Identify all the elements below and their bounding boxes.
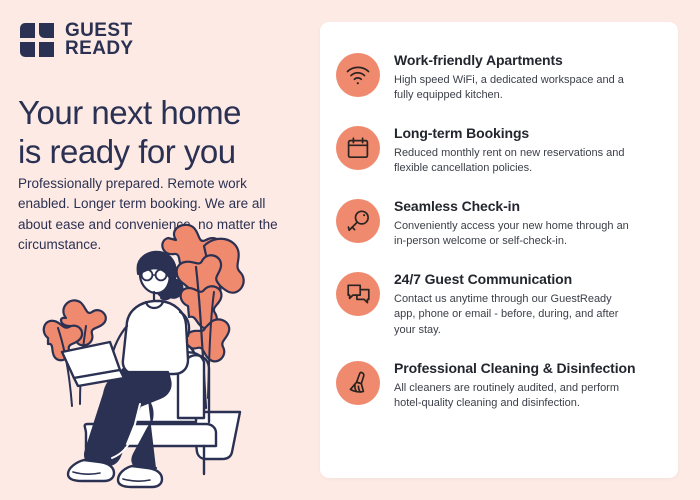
feature-item[interactable]: 24/7 Guest Communication Contact us anyt… (336, 270, 664, 337)
feature-item[interactable]: Long-term Bookings Reduced monthly rent … (336, 124, 664, 176)
broom-icon (336, 361, 380, 405)
feature-item[interactable]: Seamless Check-in Conveniently access yo… (336, 197, 664, 249)
wifi-icon (336, 53, 380, 97)
feature-text: Work-friendly Apartments High speed WiFi… (394, 51, 632, 103)
promo-page: GUEST READY Your next home is ready for … (0, 0, 700, 500)
page-title: Your next home is ready for you (18, 94, 304, 172)
feature-description: Reduced monthly rent on new reservations… (394, 146, 632, 176)
feature-text: Long-term Bookings Reduced monthly rent … (394, 124, 632, 176)
feature-text: Seamless Check-in Conveniently access yo… (394, 197, 632, 249)
feature-title: Work-friendly Apartments (394, 52, 632, 69)
feature-title: Long-term Bookings (394, 125, 632, 142)
feature-description: All cleaners are routinely audited, and … (394, 381, 632, 411)
feature-description: Contact us anytime through our GuestRead… (394, 292, 632, 338)
feature-description: Conveniently access your new home throug… (394, 219, 632, 249)
feature-item[interactable]: Professional Cleaning & Disinfection All… (336, 359, 664, 411)
feature-text: 24/7 Guest Communication Contact us anyt… (394, 270, 632, 337)
feature-description: High speed WiFi, a dedicated workspace a… (394, 73, 632, 103)
feature-title: Professional Cleaning & Disinfection (394, 360, 635, 377)
headline-line-1: Your next home (18, 94, 241, 131)
headline-line-2: is ready for you (18, 133, 304, 172)
key-icon (336, 199, 380, 243)
person-illustration (62, 252, 189, 487)
hero-column: GUEST READY Your next home is ready for … (0, 0, 318, 500)
features-list: Work-friendly Apartments High speed WiFi… (320, 22, 678, 411)
hero-illustration (28, 222, 310, 494)
guestready-square-mark-icon (18, 21, 56, 59)
feature-text: Professional Cleaning & Disinfection All… (394, 359, 635, 411)
features-panel: Work-friendly Apartments High speed WiFi… (320, 22, 678, 478)
brand-wordmark: GUEST READY (65, 22, 134, 58)
feature-item[interactable]: Work-friendly Apartments High speed WiFi… (336, 51, 664, 103)
brand-name-line2: READY (65, 40, 134, 58)
calendar-icon (336, 126, 380, 170)
feature-title: 24/7 Guest Communication (394, 271, 632, 288)
feature-title: Seamless Check-in (394, 198, 632, 215)
brand-logo[interactable]: GUEST READY (18, 21, 134, 59)
chat-bubbles-icon (336, 272, 380, 316)
